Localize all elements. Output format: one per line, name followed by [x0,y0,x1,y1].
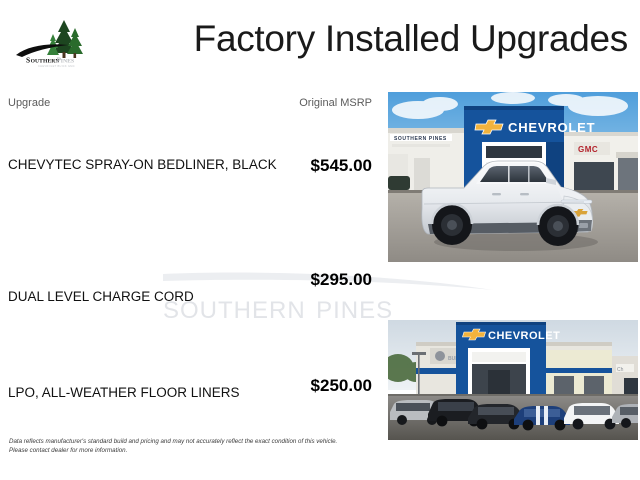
disclaimer-line-1: Data reflects manufacturer's standard bu… [9,437,369,446]
svg-text:CHEVROLET: CHEVROLET [488,330,560,342]
svg-text:S: S [26,56,30,65]
svg-text:OUTHERN: OUTHERN [31,59,60,65]
svg-text:SOUTHERN PINES: SOUTHERN PINES [394,136,447,142]
upgrade-price: $250.00 [180,376,372,396]
svg-text:Ch: Ch [617,367,624,373]
page-header: S OUTHERN P INES CHEVROLET BUICK GMC Fac… [0,0,640,82]
disclaimer: Data reflects manufacturer's standard bu… [9,437,369,455]
upgrade-price: $295.00 [180,270,372,290]
svg-text:INES: INES [61,59,74,65]
upgrade-price: $545.00 [180,156,372,176]
svg-text:GMC: GMC [578,145,598,154]
dealership-photo[interactable]: BUICK CHEVROLET Ch [388,320,638,440]
page-title: Factory Installed Upgrades [150,17,628,61]
disclaimer-line-2: Please contact dealer for more informati… [9,446,369,455]
column-header-msrp: Original MSRP [180,96,372,110]
upgrade-name: DUAL LEVEL CHARGE CORD [8,288,278,305]
table-header-row: Upgrade Original MSRP [0,96,388,116]
svg-text:CHEVROLET: CHEVROLET [508,120,595,135]
svg-text:CHEVROLET BUICK GMC: CHEVROLET BUICK GMC [38,64,75,68]
vehicle-photo-primary[interactable]: SOUTHERN PINES GMC CHEVROLET [388,92,638,262]
dealer-logo: S OUTHERN P INES CHEVROLET BUICK GMC [12,12,92,70]
